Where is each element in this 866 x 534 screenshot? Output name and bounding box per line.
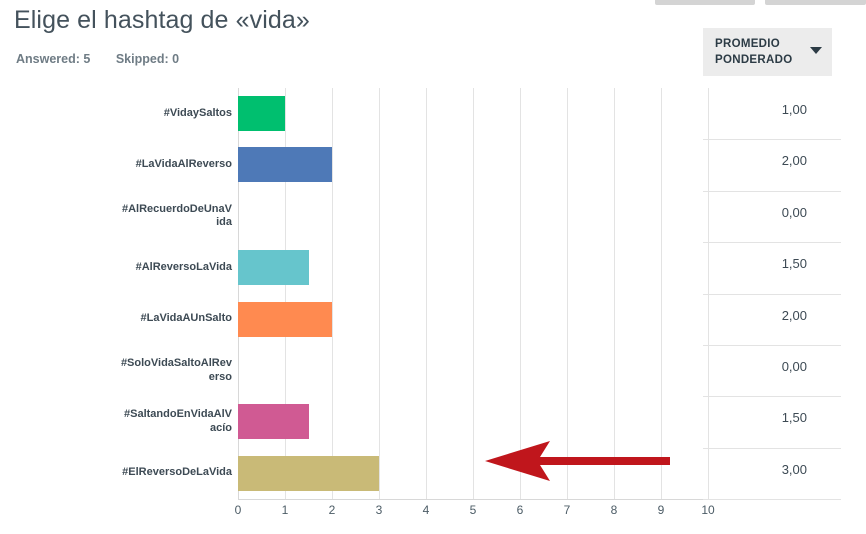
- x-tick-label: 1: [265, 503, 305, 517]
- category-label: #SoloVidaSaltoAlReverso: [120, 357, 232, 384]
- bar[interactable]: [238, 96, 285, 131]
- bar[interactable]: [238, 250, 309, 285]
- weighted-average-row: 2,00: [703, 139, 841, 190]
- x-tick-label: 5: [453, 503, 493, 517]
- skipped-count: Skipped: 0: [116, 52, 179, 66]
- category-label: #SaltandoEnVidaAlVacío: [120, 408, 232, 435]
- bar-row[interactable]: [238, 448, 708, 499]
- x-tick-label: 2: [312, 503, 352, 517]
- bar-row[interactable]: [238, 191, 708, 242]
- weighted-average-value: 1,00: [703, 102, 807, 117]
- row-divider: [703, 448, 841, 449]
- weighted-average-value: 3,00: [703, 462, 807, 477]
- chevron-down-icon[interactable]: [810, 47, 822, 54]
- weighted-average-value: 0,00: [703, 359, 807, 374]
- weighted-average-row: 1,50: [703, 396, 841, 447]
- bar-row[interactable]: [238, 242, 708, 293]
- answered-count: Answered: 5: [16, 52, 90, 66]
- x-tick-label: 8: [594, 503, 634, 517]
- row-divider: [703, 396, 841, 397]
- x-tick-label: 9: [641, 503, 681, 517]
- x-axis-line: [238, 499, 708, 500]
- bar[interactable]: [238, 404, 309, 439]
- weighted-average-row: 0,00: [703, 345, 841, 396]
- x-tick-label: 4: [406, 503, 446, 517]
- weighted-average-row: 0,00: [703, 191, 841, 242]
- x-tick-label: 3: [359, 503, 399, 517]
- weighted-average-value: 2,00: [703, 153, 807, 168]
- weighted-average-header[interactable]: PROMEDIO PONDERADO: [703, 28, 832, 76]
- weighted-average-row: 1,00: [703, 88, 841, 139]
- weighted-average-row: 3,00: [703, 448, 841, 499]
- row-divider: [703, 499, 841, 500]
- weighted-average-value: 1,50: [703, 410, 807, 425]
- x-tick-label: 6: [500, 503, 540, 517]
- bar-row[interactable]: [238, 139, 708, 190]
- row-divider: [703, 294, 841, 295]
- bar-row[interactable]: [238, 345, 708, 396]
- page-title: Elige el hashtag de «vida»: [14, 6, 310, 35]
- weighted-average-value: 2,00: [703, 308, 807, 323]
- bar-row[interactable]: [238, 396, 708, 447]
- category-label: #AlReversoLaVida: [120, 261, 232, 275]
- x-tick-label: 0: [218, 503, 258, 517]
- weighted-average-value: 0,00: [703, 205, 807, 220]
- bar[interactable]: [238, 147, 332, 182]
- bar[interactable]: [238, 456, 379, 491]
- row-divider: [703, 191, 841, 192]
- bar-chart: 012345678910#VidaySaltos#LaVidaAlReverso…: [0, 82, 700, 534]
- bar-row[interactable]: [238, 294, 708, 345]
- weighted-average-value: 1,50: [703, 256, 807, 271]
- row-divider: [703, 242, 841, 243]
- row-divider: [703, 139, 841, 140]
- weighted-average-row: 2,00: [703, 294, 841, 345]
- x-tick-label: 7: [547, 503, 587, 517]
- bar-row[interactable]: [238, 88, 708, 139]
- weighted-average-header-label: PROMEDIO PONDERADO: [715, 36, 805, 68]
- survey-result-panel: Elige el hashtag de «vida» Answered: 5 S…: [0, 0, 866, 534]
- category-label: #AlRecuerdoDeUnaVida: [120, 203, 232, 230]
- response-summary: Answered: 5 Skipped: 0: [16, 52, 179, 66]
- category-label: #VidaySaltos: [120, 107, 232, 121]
- plot-area: [238, 88, 708, 499]
- category-label: #LaVidaAlReverso: [120, 158, 232, 172]
- weighted-average-row-footer: [703, 499, 841, 534]
- row-divider: [703, 345, 841, 346]
- bar[interactable]: [238, 302, 332, 337]
- weighted-average-row: 1,50: [703, 242, 841, 293]
- category-label: #LaVidaAUnSalto: [120, 312, 232, 326]
- category-label: #ElReversoDeLaVida: [120, 466, 232, 480]
- weighted-average-column: PROMEDIO PONDERADO 1,002,000,001,502,000…: [703, 0, 866, 534]
